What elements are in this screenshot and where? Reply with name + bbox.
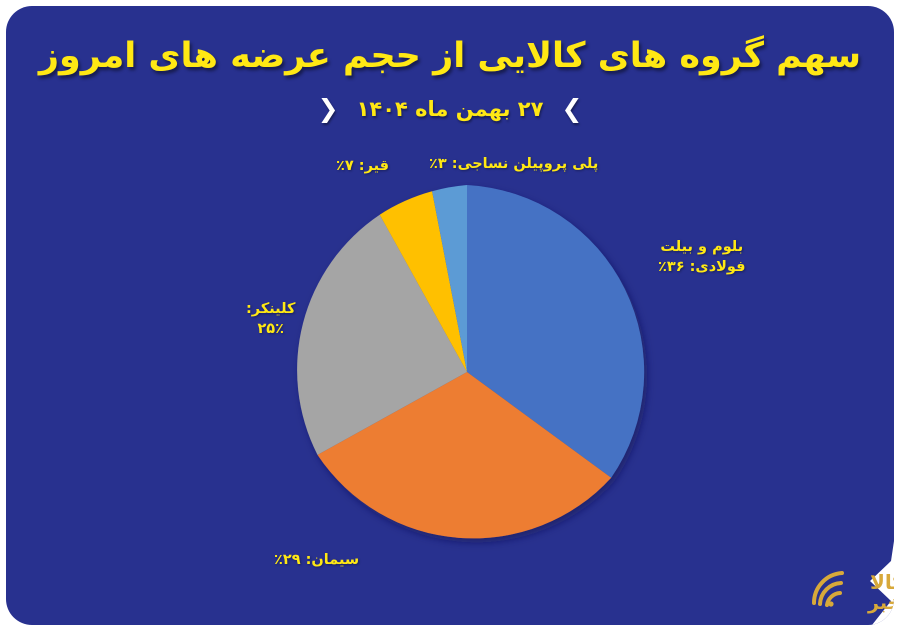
slice-label-bloom-steel-line1: بلوم و بیلت [658, 237, 746, 257]
infographic-poster: سهم گروه های کالایی از حجم عرضه های امرو… [0, 0, 900, 631]
slice-label-polypropylene: پلی پروپیلن نساجی: ۳٪ [429, 154, 598, 174]
slice-label-bitumen: قیر: ۷٪ [336, 156, 389, 176]
slice-label-bloom-steel-line2: فولادی: ۳۶٪ [658, 257, 746, 277]
slice-label-bloom-steel: بلوم و بیلت فولادی: ۳۶٪ [658, 237, 746, 277]
slice-label-clinker: کلینکر: ۲۵٪ [246, 299, 295, 339]
pie-chart-svg [277, 182, 657, 562]
pie-chart: پلی پروپیلن نساجی: ۳٪ قیر: ۷٪ بلوم و بیل… [6, 6, 894, 625]
slice-label-cement: سیمان: ۲۹٪ [274, 550, 359, 570]
slice-label-clinker-line1: کلینکر: [246, 299, 295, 319]
signal-arcs-icon [814, 573, 842, 607]
kalakhabar-logo: کالا خبر [798, 541, 894, 625]
poster-card: سهم گروه های کالایی از حجم عرضه های امرو… [6, 6, 894, 625]
slice-label-clinker-line2: ۲۵٪ [246, 319, 295, 339]
logo-text-line2: خبر [867, 592, 894, 614]
logo-text-line1: کالا [870, 570, 894, 594]
